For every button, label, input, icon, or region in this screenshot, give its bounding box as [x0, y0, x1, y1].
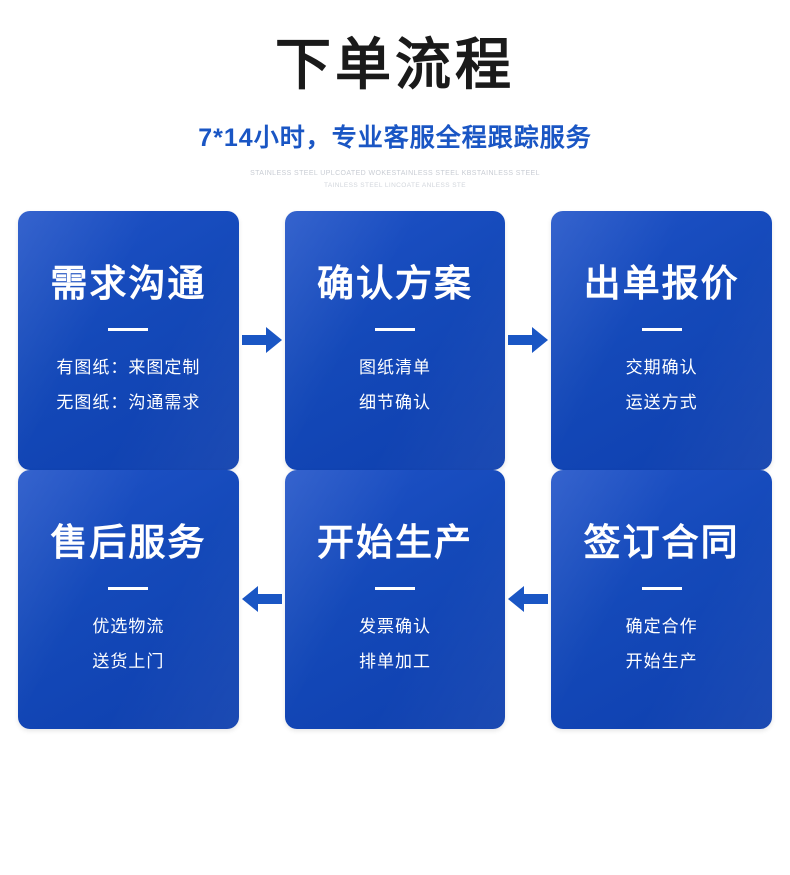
- flow-step-title: 出单报价: [584, 265, 740, 302]
- flow-step-card-4: 签订合同 确定合作 开始生产: [551, 470, 772, 729]
- flow-row-2: 售后服务 优选物流 送货上门 开始生产 发票确认 排单加工: [18, 470, 772, 729]
- divider: [642, 587, 682, 590]
- flow-step-title: 确认方案: [317, 265, 473, 302]
- watermark-text-line-2: TAINLESS STEEL LINCOATE ANLESS STE: [0, 182, 790, 189]
- divider: [375, 587, 415, 590]
- flow-step-detail: 优选物流: [92, 618, 164, 635]
- flow-step-detail: 运送方式: [626, 394, 698, 411]
- flow-step-title: 需求沟通: [50, 265, 206, 302]
- watermark-text-line-1: STAINLESS STEEL UPLCOATED WOKESTAINLESS …: [0, 170, 790, 177]
- page-title: 下单流程: [0, 34, 790, 96]
- flow-step-card-2: 确认方案 图纸清单 细节确认: [285, 211, 506, 470]
- divider: [108, 328, 148, 331]
- flow-row-1: 需求沟通 有图纸：来图定制 无图纸：沟通需求 确认方案 图纸清单 细节确认: [18, 211, 772, 470]
- flow-step-title: 售后服务: [50, 524, 206, 561]
- page-subtitle: 7*14小时，专业客服全程跟踪服务: [0, 118, 790, 154]
- flow-step-detail: 交期确认: [626, 359, 698, 376]
- order-process-infographic: 下单流程 7*14小时，专业客服全程跟踪服务 STAINLESS STEEL U…: [0, 0, 790, 875]
- arrow-right-icon: [239, 211, 285, 470]
- flow-step-detail: 发票确认: [359, 618, 431, 635]
- flow-step-title: 签订合同: [584, 524, 740, 561]
- flow-step-detail: 确定合作: [626, 618, 698, 635]
- flow-step-detail: 送货上门: [92, 653, 164, 670]
- flow-step-detail: 细节确认: [359, 394, 431, 411]
- flow-diagram: 需求沟通 有图纸：来图定制 无图纸：沟通需求 确认方案 图纸清单 细节确认: [0, 211, 790, 729]
- flow-step-card-5: 开始生产 发票确认 排单加工: [285, 470, 506, 729]
- header: 下单流程 7*14小时，专业客服全程跟踪服务 STAINLESS STEEL U…: [0, 0, 790, 189]
- flow-step-card-3: 出单报价 交期确认 运送方式: [551, 211, 772, 470]
- divider: [642, 328, 682, 331]
- flow-step-title: 开始生产: [317, 524, 473, 561]
- divider: [108, 587, 148, 590]
- flow-step-detail: 图纸清单: [359, 359, 431, 376]
- arrow-left-icon: [239, 470, 285, 729]
- arrow-left-icon: [505, 470, 551, 729]
- arrow-right-icon: [505, 211, 551, 470]
- flow-step-card-6: 售后服务 优选物流 送货上门: [18, 470, 239, 729]
- flow-step-detail: 开始生产: [626, 653, 698, 670]
- flow-step-detail: 排单加工: [359, 653, 431, 670]
- flow-step-card-1: 需求沟通 有图纸：来图定制 无图纸：沟通需求: [18, 211, 239, 470]
- divider: [375, 328, 415, 331]
- flow-step-detail: 无图纸：沟通需求: [56, 394, 200, 411]
- flow-step-detail: 有图纸：来图定制: [56, 359, 200, 376]
